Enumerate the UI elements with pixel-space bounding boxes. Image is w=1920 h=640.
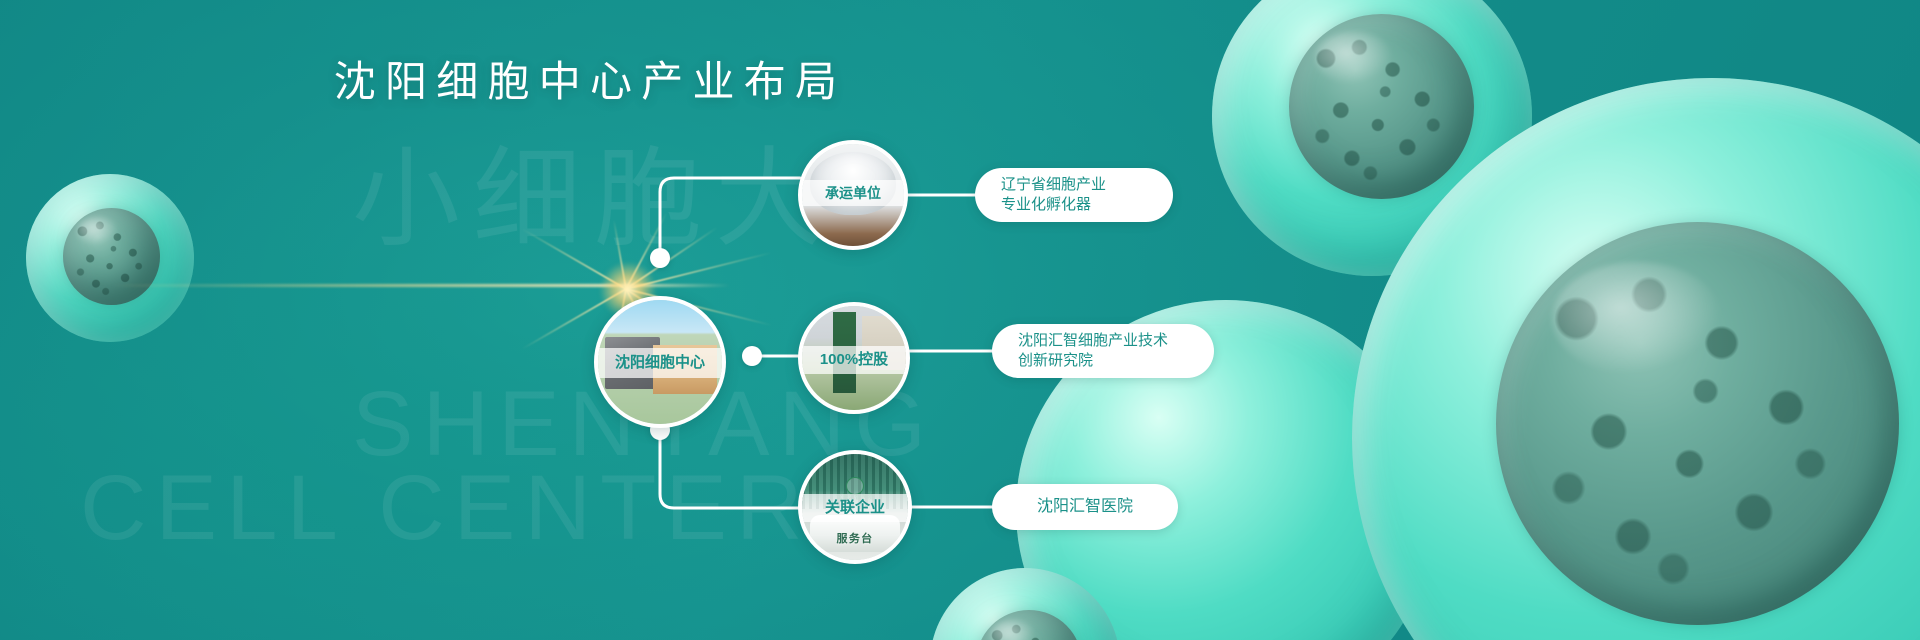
banner-stage: 小细胞大 SHENYANG CELL CENTER 沈阳细胞中心 xyxy=(0,0,1920,640)
label-pill-carrier-unit[interactable]: 辽宁省细胞产业 专业化孵化器 xyxy=(975,168,1173,222)
branch-node-photo-subtext: 服务台 xyxy=(802,530,908,546)
cell-nucleus xyxy=(1289,14,1475,200)
flare-streak xyxy=(110,284,730,287)
cell-left-small-icon xyxy=(26,174,194,342)
cell-nucleus xyxy=(63,208,160,305)
flare-ray xyxy=(613,220,627,289)
watermark-chinese: 小细胞大 xyxy=(352,112,836,268)
cell-bottom-small-icon xyxy=(930,568,1120,640)
label-line-2: 专业化孵化器 xyxy=(1001,195,1173,215)
label-line-1: 沈阳汇智医院 xyxy=(1037,496,1133,518)
watermark-english-2: CELL CENTER xyxy=(80,456,812,561)
cell-membrane xyxy=(930,568,1120,640)
cell-nucleus xyxy=(1496,222,1899,625)
cell-right-big-icon xyxy=(1352,78,1920,640)
branch-node-caption: 100%控股 xyxy=(802,346,906,374)
connector-dot-middle xyxy=(742,346,762,366)
connector-hub-to-top xyxy=(660,178,800,250)
label-line-1: 辽宁省细胞产业 xyxy=(1001,175,1173,195)
label-line-1: 沈阳汇智细胞产业技术 xyxy=(1018,331,1214,351)
label-line-2: 创新研究院 xyxy=(1018,351,1214,371)
flare-ray xyxy=(626,252,772,290)
branch-node-holding[interactable]: 100%控股 xyxy=(798,302,910,414)
hub-node-caption: 沈阳细胞中心 xyxy=(598,348,722,378)
branch-node-affiliated-enterprise[interactable]: 沈阳汇智医院 关联企业 服务台 xyxy=(798,450,912,564)
flare-ray xyxy=(522,228,627,290)
connector-dot-top xyxy=(650,248,670,268)
branch-node-caption: 关联企业 xyxy=(802,494,908,522)
branch-node-carrier-unit[interactable]: 承运单位 xyxy=(798,140,908,250)
branch-node-caption: 承运单位 xyxy=(802,180,904,206)
page-title: 沈阳细胞中心产业布局 xyxy=(0,48,1180,109)
hub-node-shenyang-cell-center[interactable]: 沈阳细胞中心 xyxy=(594,296,726,428)
connector-hub-to-bottom xyxy=(660,430,806,508)
cell-membrane xyxy=(26,174,194,342)
label-pill-hospital[interactable]: 沈阳汇智医院 xyxy=(992,484,1178,530)
cell-membrane xyxy=(1212,0,1532,276)
cell-nucleus xyxy=(976,610,1082,640)
label-pill-research-institute[interactable]: 沈阳汇智细胞产业技术 创新研究院 xyxy=(992,324,1214,378)
cell-right-top-icon xyxy=(1212,0,1532,276)
flare-ray xyxy=(625,227,717,290)
cell-membrane xyxy=(1352,78,1920,640)
